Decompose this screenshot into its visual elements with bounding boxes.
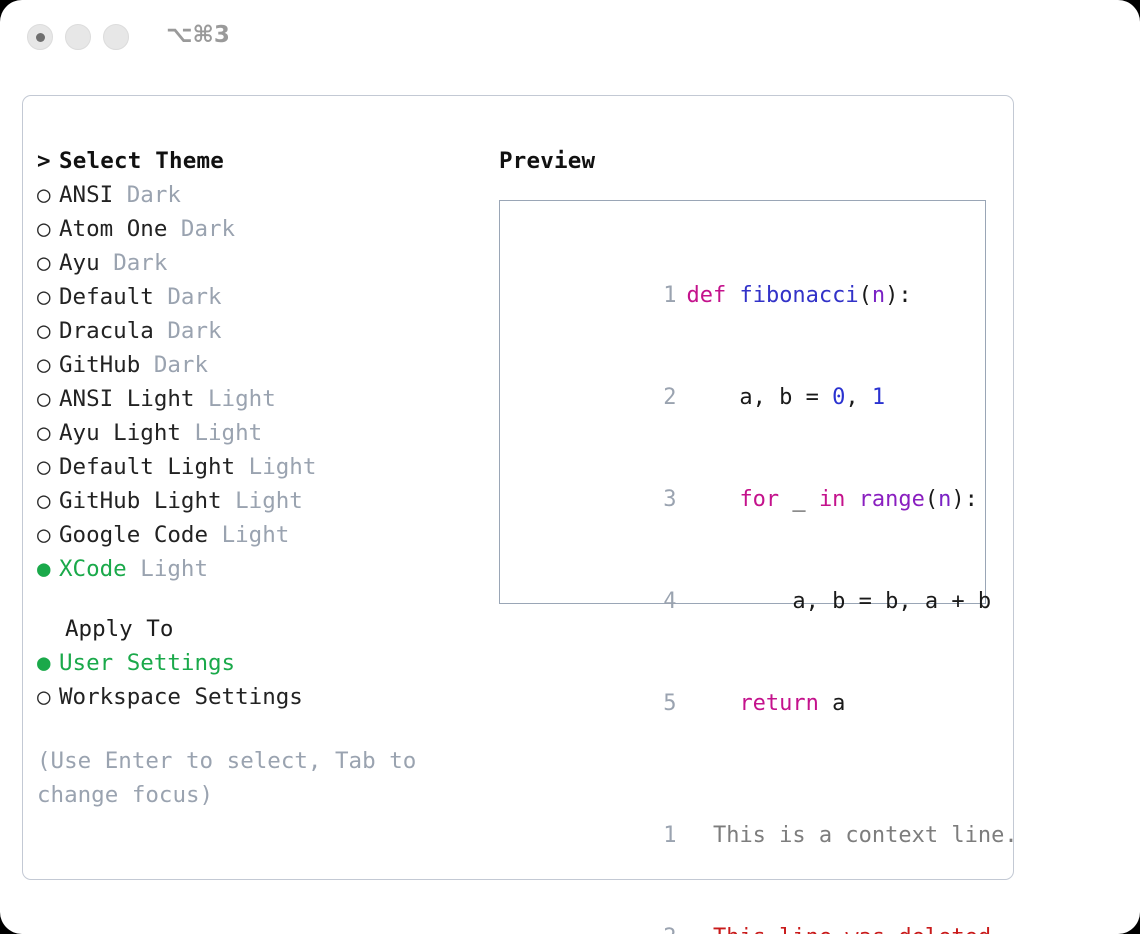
theme-item-category: Dark [167,216,235,242]
code-line: 2 a, b = 0, 1 [518,347,985,449]
apply-to-option-label: Workspace Settings [59,684,303,710]
code-token: _ [779,487,819,512]
theme-item-label: Google Code [59,522,208,548]
theme-item-category: Dark [154,318,222,344]
title-bar: ⌥⌘3 [0,0,1140,78]
preview-box: 1def fibonacci(n): 2 a, b = 0, 1 3 for _… [499,200,986,604]
code-token: a, b = b, a + b [686,589,991,614]
radio-unselected-icon[interactable]: ○ [37,680,59,714]
theme-item-label: Ayu Light [59,420,181,446]
radio-unselected-icon[interactable]: ○ [37,212,59,246]
code-token: fibonacci [739,283,858,308]
window-dot-active-icon[interactable] [27,24,53,50]
theme-item-category: Light [235,454,316,480]
keyboard-hint-text: (Use Enter to select, Tab to change focu… [37,744,449,812]
code-token: def [686,283,726,308]
window-controls [27,24,129,50]
theme-item-github-light[interactable]: ○GitHub Light Light [37,484,477,518]
preview-pane: Preview 1def fibonacci(n): 2 a, b = 0, 1… [499,144,999,604]
theme-item-github[interactable]: ○GitHub Dark [37,348,477,382]
code-token [686,691,739,716]
theme-item-ansi[interactable]: ○ANSI Dark [37,178,477,212]
theme-item-label: ANSI [59,182,113,208]
theme-item-category: Light [181,420,262,446]
theme-item-category: Light [127,556,208,582]
window-dot-inner-icon [36,33,45,42]
radio-unselected-icon[interactable]: ○ [37,178,59,212]
theme-item-category: Light [194,386,275,412]
theme-item-label: Default [59,284,154,310]
theme-item-category: Dark [113,182,181,208]
code-token [726,283,739,308]
code-line: 1def fibonacci(n): [518,245,985,347]
theme-picker: >Select Theme ○ANSI Dark ○Atom One Dark … [37,144,477,812]
radio-unselected-icon[interactable]: ○ [37,416,59,450]
code-token: n [872,283,885,308]
theme-item-ansi-light[interactable]: ○ANSI Light Light [37,382,477,416]
theme-item-label: GitHub [59,352,140,378]
code-token: in [819,487,846,512]
apply-to-title: Apply To [37,612,477,646]
radio-unselected-icon[interactable]: ○ [37,484,59,518]
theme-item-category: Light [208,522,289,548]
apply-to-workspace-settings[interactable]: ○Workspace Settings [37,680,477,714]
code-token: range [859,487,925,512]
theme-item-category: Dark [154,284,222,310]
page-title: Select Theme [59,148,224,174]
diff-marker [686,823,699,848]
theme-item-default-light[interactable]: ○Default Light Light [37,450,477,484]
radio-selected-icon[interactable]: ● [37,552,59,586]
theme-item-xcode[interactable]: ●XCode Light [37,552,477,586]
code-token: ( [859,283,872,308]
theme-item-label: Default Light [59,454,235,480]
radio-unselected-icon[interactable]: ○ [37,348,59,382]
theme-item-label: Dracula [59,318,154,344]
apply-to-option-label: User Settings [59,650,235,676]
theme-item-label: ANSI Light [59,386,194,412]
radio-unselected-icon[interactable]: ○ [37,450,59,484]
theme-item-dracula[interactable]: ○Dracula Dark [37,314,477,348]
section-spacer [37,586,477,612]
code-token: ): [951,487,978,512]
theme-item-ayu-light[interactable]: ○Ayu Light Light [37,416,477,450]
diff-spacer [518,755,985,785]
theme-item-label: Ayu [59,250,100,276]
line-number: 2 [650,381,676,415]
theme-item-google-code[interactable]: ○Google Code Light [37,518,477,552]
code-line: 5 return a [518,653,985,755]
theme-item-ayu[interactable]: ○Ayu Dark [37,246,477,280]
code-token: a [819,691,846,716]
line-number: 5 [650,687,676,721]
keyboard-shortcut-label: ⌥⌘3 [166,22,230,48]
radio-unselected-icon[interactable]: ○ [37,280,59,314]
theme-item-atom-one[interactable]: ○Atom One Dark [37,212,477,246]
theme-item-label: Atom One [59,216,167,242]
theme-item-label: GitHub Light [59,488,222,514]
theme-picker-heading: >Select Theme [37,144,477,178]
code-token: return [739,691,818,716]
code-token: 0 [832,385,845,410]
theme-item-category: Light [222,488,303,514]
code-token: 1 [872,385,885,410]
window-dot-second-icon[interactable] [65,24,91,50]
line-number: 3 [650,483,676,517]
radio-selected-icon[interactable]: ● [37,646,59,680]
radio-unselected-icon[interactable]: ○ [37,314,59,348]
diff-text: This line was deleted. [700,925,1005,934]
main-panel: >Select Theme ○ANSI Dark ○Atom One Dark … [22,95,1014,880]
code-token: ): [885,283,912,308]
diff-line-deleted: 2- This line was deleted. [518,887,985,934]
radio-unselected-icon[interactable]: ○ [37,382,59,416]
code-token [686,487,739,512]
line-number: 4 [650,585,676,619]
window-dot-third-icon[interactable] [103,24,129,50]
code-line: 4 a, b = b, a + b [518,551,985,653]
diff-marker: - [686,925,699,934]
code-token: n [938,487,951,512]
app-window: ⌥⌘3 >Select Theme ○ANSI Dark ○Atom One D… [0,0,1140,934]
theme-item-label: XCode [59,556,127,582]
radio-unselected-icon[interactable]: ○ [37,518,59,552]
code-token: ( [925,487,938,512]
theme-item-category: Dark [140,352,208,378]
theme-item-category: Dark [100,250,168,276]
diff-line-context: 1 This is a context line. [518,785,985,887]
code-line: 3 for _ in range(n): [518,449,985,551]
preview-title: Preview [499,144,999,178]
line-number: 2 [650,921,676,934]
diff-text: This is a context line. [700,823,1018,848]
line-number: 1 [650,279,676,313]
theme-item-default[interactable]: ○Default Dark [37,280,477,314]
caret-icon: > [37,144,59,178]
code-token [845,487,858,512]
line-number: 1 [650,819,676,853]
code-token: a, b = [686,385,832,410]
code-token: , [845,385,872,410]
hint-spacer [37,714,477,744]
radio-unselected-icon[interactable]: ○ [37,246,59,280]
code-token: for [739,487,779,512]
apply-to-user-settings[interactable]: ●User Settings [37,646,477,680]
